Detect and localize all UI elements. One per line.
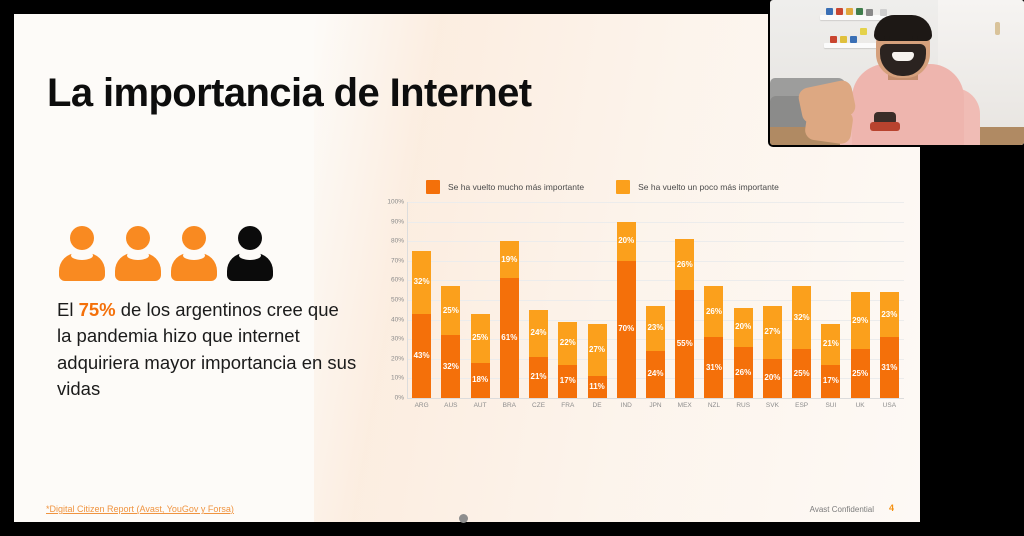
- bar-segment-much-more: 25%: [792, 349, 811, 398]
- x-axis-tick: USA: [880, 402, 899, 409]
- bar-segment-little-more: 23%: [646, 306, 665, 351]
- bar-segment-label: 27%: [764, 328, 780, 336]
- legend-swatch-0: [426, 180, 440, 194]
- bar-segment-much-more: 17%: [558, 365, 577, 398]
- bar-segment-little-more: 21%: [821, 324, 840, 365]
- shelf-item: [856, 8, 863, 15]
- y-axis-tick: 90%: [391, 218, 404, 225]
- page-number: 4: [889, 503, 894, 513]
- y-axis-tick: 100%: [387, 199, 404, 206]
- bar-segment-much-more: 20%: [763, 359, 782, 398]
- x-axis-tick: SVK: [763, 402, 782, 409]
- bar-segment-label: 32%: [414, 278, 430, 286]
- bar-segment-much-more: 18%: [471, 363, 490, 398]
- bar-segment-label: 31%: [881, 364, 897, 372]
- bar-segment-label: 21%: [823, 340, 839, 348]
- y-axis-tick: 80%: [391, 238, 404, 245]
- y-axis-tick: 30%: [391, 336, 404, 343]
- door-handle: [995, 22, 1000, 35]
- slide-title: La importancia de Internet: [47, 71, 532, 116]
- shelf-item: [880, 9, 887, 16]
- chart-bar[interactable]: 19%61%: [500, 202, 519, 398]
- chart-bar[interactable]: 32%25%: [792, 202, 811, 398]
- bar-segment-label: 25%: [852, 370, 868, 378]
- confidential-label: Avast Confidential: [810, 505, 874, 514]
- x-axis-tick: BRA: [500, 402, 519, 409]
- webcam-video-overlay[interactable]: [770, 0, 1024, 145]
- shelf-item: [826, 8, 833, 15]
- bar-segment-little-more: 19%: [500, 241, 519, 278]
- bar-segment-little-more: 22%: [558, 322, 577, 365]
- person-icon-orange-3: [171, 226, 217, 281]
- bar-segment-label: 43%: [414, 352, 430, 360]
- x-axis-tick: FRA: [558, 402, 577, 409]
- legend-item-1: Se ha vuelto un poco más importante: [616, 180, 779, 194]
- slide-indicator-dot[interactable]: [459, 514, 468, 523]
- bar-segment-label: 31%: [706, 364, 722, 372]
- presenter-hair: [874, 15, 932, 41]
- bar-segment-little-more: 27%: [763, 306, 782, 359]
- bar-segment-much-more: 61%: [500, 278, 519, 398]
- bar-segment-much-more: 26%: [734, 347, 753, 398]
- x-axis-tick: IND: [617, 402, 636, 409]
- x-axis-tick: UK: [851, 402, 870, 409]
- bar-segment-little-more: 24%: [529, 310, 548, 357]
- body-text-pre: El: [57, 299, 79, 320]
- source-footnote[interactable]: *Digital Citizen Report (Avast, YouGov y…: [46, 504, 234, 514]
- chart-legend: Se ha vuelto mucho más importante Se ha …: [426, 180, 779, 194]
- bar-segment-little-more: 25%: [441, 286, 460, 335]
- person-icon-orange-1: [59, 226, 105, 281]
- y-axis-tick: 50%: [391, 297, 404, 304]
- bar-segment-little-more: 20%: [734, 308, 753, 347]
- bar-segment-label: 25%: [472, 334, 488, 342]
- chart-bar[interactable]: 23%31%: [880, 202, 899, 398]
- x-axis-tick: RUS: [734, 402, 753, 409]
- bar-segment-little-more: 26%: [675, 239, 694, 290]
- bar-segment-much-more: 32%: [441, 335, 460, 398]
- bar-segment-little-more: 32%: [412, 251, 431, 314]
- chart-bar[interactable]: 21%17%: [821, 202, 840, 398]
- bar-segment-label: 26%: [735, 369, 751, 377]
- bar-segment-label: 32%: [443, 363, 459, 371]
- bar-segment-much-more: 70%: [617, 261, 636, 398]
- bar-segment-label: 17%: [560, 377, 576, 385]
- presenter-eye-right: [912, 36, 918, 39]
- person-icon-black-4: [227, 226, 273, 281]
- legend-label-1: Se ha vuelto un poco más importante: [638, 182, 779, 192]
- bar-segment-label: 70%: [618, 325, 634, 333]
- chart-bar[interactable]: 23%24%: [646, 202, 665, 398]
- watch-band: [870, 122, 900, 131]
- bar-segment-much-more: 31%: [704, 337, 723, 398]
- bar-segment-label: 24%: [647, 370, 663, 378]
- shelf-item: [846, 8, 853, 15]
- shelf-item: [830, 36, 837, 43]
- x-axis-tick: JPN: [646, 402, 665, 409]
- bar-segment-much-more: 55%: [675, 290, 694, 398]
- bar-segment-label: 29%: [852, 317, 868, 325]
- bar-segment-label: 11%: [589, 383, 605, 391]
- chart-bar[interactable]: 22%17%: [558, 202, 577, 398]
- shelf-item: [836, 8, 843, 15]
- chart-bar[interactable]: 27%20%: [763, 202, 782, 398]
- bar-segment-label: 22%: [560, 339, 576, 347]
- bar-segment-label: 23%: [881, 311, 897, 319]
- bar-segment-label: 61%: [501, 334, 517, 342]
- chart-bar[interactable]: 20%26%: [734, 202, 753, 398]
- bar-segment-little-more: 32%: [792, 286, 811, 349]
- bar-segment-much-more: 11%: [588, 376, 607, 398]
- bar-segment-label: 20%: [618, 237, 634, 245]
- presenter-mouth: [892, 52, 914, 61]
- x-axis-tick: NZL: [704, 402, 723, 409]
- screen-root: La importancia de Internet: [0, 0, 1024, 536]
- people-icon-group: [59, 226, 273, 281]
- chart-bar[interactable]: 26%31%: [704, 202, 723, 398]
- bar-segment-label: 19%: [501, 256, 517, 264]
- x-axis-tick: ESP: [792, 402, 811, 409]
- y-axis-tick: 10%: [391, 375, 404, 382]
- chart-bar[interactable]: 26%55%: [675, 202, 694, 398]
- shelf-item: [860, 28, 867, 35]
- x-axis-tick: CZE: [529, 402, 548, 409]
- y-axis-tick: 20%: [391, 355, 404, 362]
- bar-segment-little-more: 29%: [851, 292, 870, 349]
- bar-segment-little-more: 20%: [617, 222, 636, 261]
- bar-segment-label: 26%: [677, 261, 693, 269]
- bar-segment-much-more: 43%: [412, 314, 431, 398]
- bar-segment-label: 23%: [647, 324, 663, 332]
- body-text-highlight: 75%: [79, 299, 116, 320]
- bar-segment-much-more: 17%: [821, 365, 840, 398]
- bar-segment-label: 55%: [677, 340, 693, 348]
- bar-segment-label: 21%: [531, 373, 547, 381]
- bar-segment-much-more: 25%: [851, 349, 870, 398]
- bar-segment-much-more: 21%: [529, 357, 548, 398]
- y-axis: 0%10%20%30%40%50%60%70%80%90%100%: [374, 202, 404, 398]
- bar-segment-label: 20%: [735, 323, 751, 331]
- bar-segment-little-more: 27%: [588, 324, 607, 377]
- chart-bar[interactable]: 29%25%: [851, 202, 870, 398]
- y-axis-tick: 70%: [391, 257, 404, 264]
- chart-bar[interactable]: 25%32%: [441, 202, 460, 398]
- x-axis-tick: SUI: [821, 402, 840, 409]
- chart-bar[interactable]: 25%18%: [471, 202, 490, 398]
- bar-segment-much-more: 31%: [880, 337, 899, 398]
- presenter-hand-right: [804, 105, 854, 145]
- chart-bars: 32%43%25%32%25%18%19%61%24%21%22%17%27%1…: [407, 202, 904, 398]
- shelf-item: [850, 36, 857, 43]
- x-axis-tick: ARG: [412, 402, 431, 409]
- bar-segment-label: 25%: [443, 307, 459, 315]
- y-axis-tick: 0%: [395, 395, 404, 402]
- x-axis-tick: DE: [588, 402, 607, 409]
- shelf-item: [840, 36, 847, 43]
- bar-segment-label: 17%: [823, 377, 839, 385]
- bar-segment-little-more: 23%: [880, 292, 899, 337]
- bar-segment-label: 20%: [764, 374, 780, 382]
- bar-segment-label: 27%: [589, 346, 605, 354]
- bar-segment-label: 24%: [531, 329, 547, 337]
- x-axis-tick: MEX: [675, 402, 694, 409]
- person-icon-orange-2: [115, 226, 161, 281]
- presenter-eye-left: [884, 36, 890, 39]
- chart-bar[interactable]: 32%43%: [412, 202, 431, 398]
- legend-item-0: Se ha vuelto mucho más importante: [426, 180, 584, 194]
- bar-segment-little-more: 25%: [471, 314, 490, 363]
- y-axis-tick: 40%: [391, 316, 404, 323]
- bar-segment-much-more: 24%: [646, 351, 665, 398]
- chart-plot-area: 0%10%20%30%40%50%60%70%80%90%100% 32%43%…: [374, 202, 910, 420]
- x-axis-tick: AUT: [471, 402, 490, 409]
- legend-swatch-1: [616, 180, 630, 194]
- stacked-bar-chart: Se ha vuelto mucho más importante Se ha …: [374, 176, 910, 448]
- y-axis-tick: 60%: [391, 277, 404, 284]
- x-axis-labels: ARGAUSAUTBRACZEFRADEINDJPNMEXNZLRUSSVKES…: [407, 402, 904, 409]
- shelf-item: [866, 9, 873, 16]
- slide-body-text: El 75% de los argentinos cree que la pan…: [57, 297, 357, 402]
- bar-segment-label: 32%: [794, 314, 810, 322]
- chart-bar[interactable]: 27%11%: [588, 202, 607, 398]
- legend-label-0: Se ha vuelto mucho más importante: [448, 182, 584, 192]
- bar-segment-little-more: 26%: [704, 286, 723, 337]
- bar-segment-label: 18%: [472, 376, 488, 384]
- bar-segment-label: 26%: [706, 308, 722, 316]
- chart-bar[interactable]: 20%70%: [617, 202, 636, 398]
- x-axis-tick: AUS: [441, 402, 460, 409]
- chart-bar[interactable]: 24%21%: [529, 202, 548, 398]
- bar-segment-label: 25%: [794, 370, 810, 378]
